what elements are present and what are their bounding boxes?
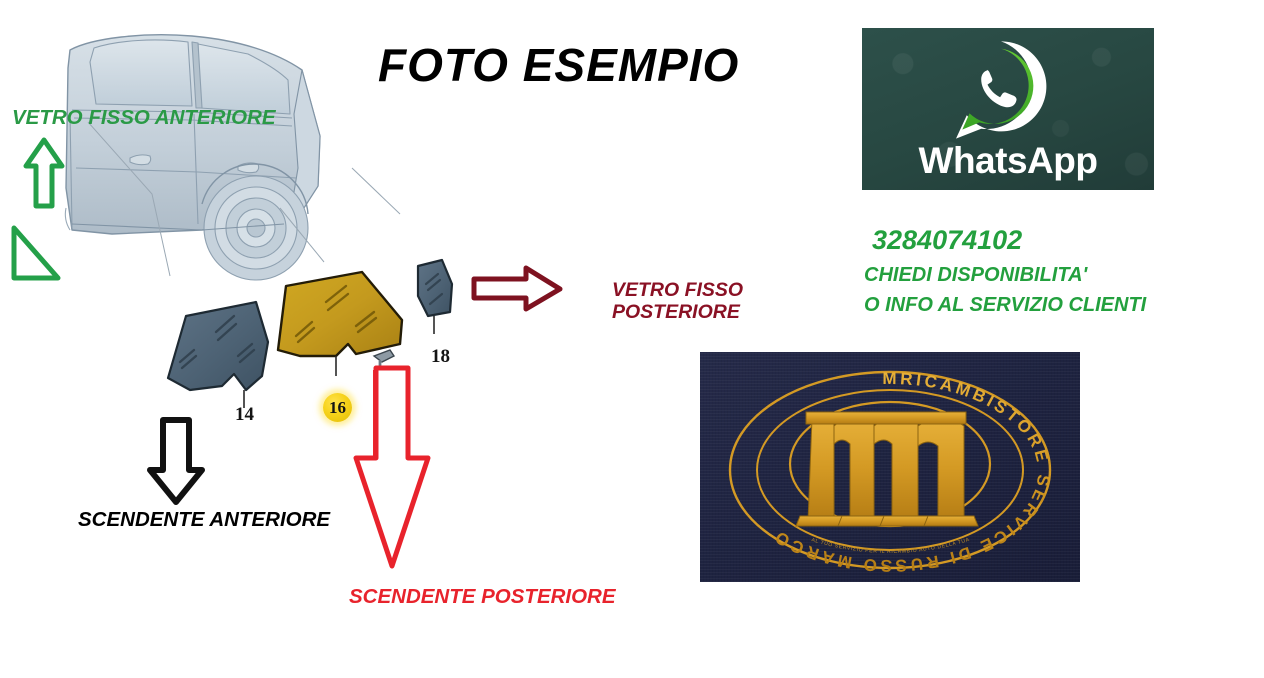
glass-parts-diagram [150,250,480,440]
part-badge-16: 16 [323,393,352,422]
label-scendente-anteriore: SCENDENTE ANTERIORE [78,509,330,532]
right-arrow-dark-red-icon [474,268,560,309]
contact-line-availability: CHIEDI DISPONIBILITA' [864,264,1087,287]
label-vetro-fisso-posteriore-line1: VETRO FISSO [612,280,743,302]
label-vetro-fisso-anteriore: VETRO FISSO ANTERIORE [12,107,276,130]
label-vetro-fisso-posteriore-line2: POSTERIORE [612,302,743,324]
poster-canvas: 14 16 17 18 FOTO ESEMPIO VETRO FISSO ANT… [0,0,1264,678]
label-vetro-fisso-posteriore: VETRO FISSO POSTERIORE [612,280,743,324]
whatsapp-banner: WhatsApp [862,28,1154,190]
part-17-highlight-box [373,370,403,470]
part-number-17: 17 [379,394,398,416]
contact-line-customer-service: O INFO AL SERVIZIO CLIENTI [864,294,1146,317]
part-number-18: 18 [431,346,450,368]
whatsapp-wordmark: WhatsApp [862,140,1154,182]
shop-logo-emblem: MRICAMBISTORE SERVICE DI RUSSO MARCO [700,352,1080,582]
shop-logo-monogram [796,412,978,526]
phone-number: 3284074102 [872,225,1022,256]
label-scendente-posteriore: SCENDENTE POSTERIORE [349,586,616,609]
part-14-glass [168,302,268,408]
part-number-14: 14 [235,404,254,426]
shop-logo-photo: MRICAMBISTORE SERVICE DI RUSSO MARCO [700,352,1080,582]
whatsapp-logo-icon [947,36,1055,144]
part-18-glass [418,260,452,334]
